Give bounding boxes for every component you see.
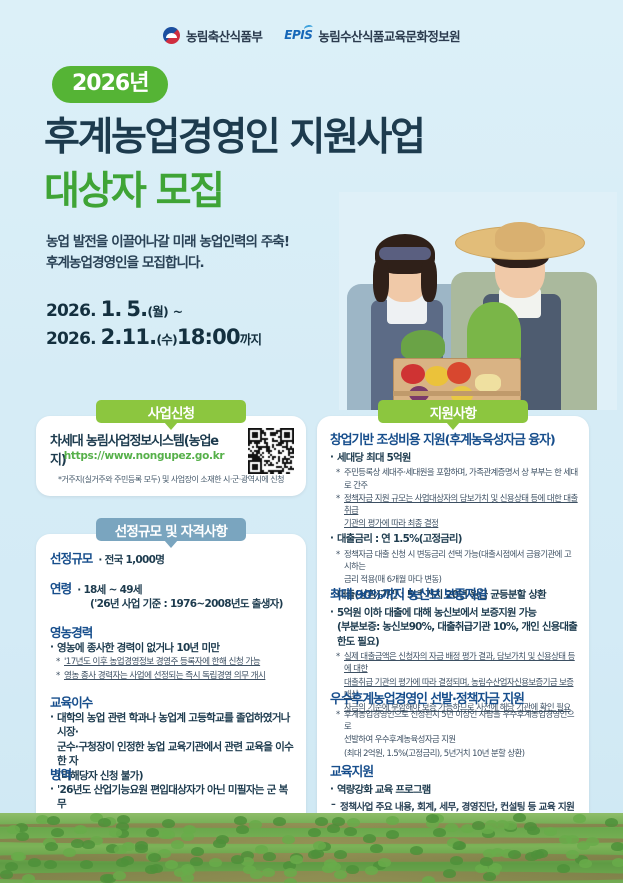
field-foliage [586, 837, 599, 846]
field-foliage [243, 865, 256, 874]
field-foliage [181, 864, 194, 873]
page-title-line2: 대상자 모집 [44, 172, 223, 211]
support-bullet-cont: (부분보증: 농신보90%, 대출취급기관 10%, 개인 신용대출 한도 필요… [330, 620, 578, 649]
field-foliage [445, 823, 458, 832]
year-badge: 2026년 [52, 66, 168, 103]
selection-item: 대학의 농업 관련 학과나 농업계 고등학교를 졸업하였거나 시장· [50, 711, 294, 740]
selection-section-heading: 병역 [50, 764, 71, 783]
support-note: 주민등록상 세대주·세대원을 포함하며, 가족관계증명서 상 부부는 한 세대로… [336, 466, 578, 490]
support-section: 교육지원역량강화 교육 프로그램정책사업 주요 내용, 회계, 세무, 경영진단… [330, 761, 578, 813]
apply-caption: 사업신청 [96, 400, 246, 423]
selection-section-heading: 교육이수 [50, 692, 92, 711]
field-foliage [162, 830, 175, 839]
selection-card: 선정규모· 전국 1,000명연령· 18세 ~ 49세('26년 사업 기준 … [36, 534, 306, 840]
poster: 농림축산식품부 EPIS 농림수산식품교육문화정보원 [0, 0, 623, 883]
field-foliage [0, 870, 13, 879]
qr-code[interactable] [248, 428, 294, 474]
field-foliage [290, 855, 303, 864]
support-section: 창업기반 조성비용 지원(후계농육성자금 융자)세대당 최대 5억원주민등록상 … [330, 429, 578, 603]
support-note: (최대 2억원, 1.5%(고정금리), 5년거치 10년 분할 상환) [336, 747, 578, 759]
field-foliage [513, 813, 526, 822]
field-foliage [231, 855, 244, 864]
selection-section: 영농경력영농에 종사한 경력이 없거나 10년 미만'17년도 이후 농업경영정… [50, 622, 294, 682]
support-note: 실제 대출금액은 신청자의 자금 배정 평가 결과, 담보가치 및 신용상태 등… [336, 650, 578, 674]
selection-section-heading: 연령 [50, 578, 71, 597]
field-foliage [234, 816, 247, 825]
end-suffix: 까지 [240, 332, 261, 347]
field-foliage [122, 842, 135, 851]
field-foliage [315, 817, 328, 826]
field-foliage [344, 827, 357, 836]
support-bullet: 역량강화 교육 프로그램 [330, 783, 578, 797]
field-foliage [181, 832, 194, 841]
field-foliage [47, 816, 60, 825]
selection-section-heading: 영농경력 [50, 622, 92, 641]
field-foliage [363, 834, 376, 843]
field-foliage [324, 859, 337, 868]
field-foliage [308, 828, 321, 837]
subtitle-line1: 농업 발전을 이끌어나갈 미래 농업인력의 주축! [46, 232, 289, 253]
end-year: 2026. [46, 329, 96, 349]
support-section: 우수후계농업경영인 선발·정책자금 지원후계농업경영인으로 선정된지 5년 이상… [330, 688, 578, 759]
field-foliage [531, 850, 544, 859]
field-foliage [557, 864, 570, 873]
selection-subitem: '17년도 이후 농업경영정보 경영주 등록자에 한해 신청 가능 [56, 656, 294, 668]
field-foliage [74, 825, 87, 834]
field-foliage [346, 865, 359, 874]
selection-subitem: 영농 종사 경력자는 사업에 선정되는 즉시 독립경영 의무 개시 [56, 670, 294, 682]
field-foliage [45, 842, 58, 851]
field-foliage [612, 858, 623, 867]
apply-system-name: 차세대 농림사업정보시스템(농업e지) [50, 430, 228, 468]
support-note: 선발하여 우수후계농육성자금 지원 [336, 733, 578, 745]
page-title-line1: 후계농업경영인 지원사업 [44, 118, 423, 157]
field-foliage [11, 852, 24, 861]
field-foliage [433, 828, 446, 837]
field-foliage [28, 858, 41, 867]
field-foliage [334, 870, 347, 879]
apply-url-link[interactable]: https://www.nongupez.go.kr [62, 450, 226, 462]
field-foliage [544, 827, 557, 836]
field-foliage [100, 874, 113, 883]
support-section-heading: 창업기반 조성비용 지원(후계농육성자금 융자) [330, 429, 578, 448]
selection-caption: 선정규모 및 자격사항 [96, 518, 246, 541]
selection-section-heading: 선정규모 [50, 548, 92, 567]
field-foliage [453, 841, 466, 850]
support-card: 창업기반 조성비용 지원(후계농육성자금 융자)세대당 최대 5억원주민등록상 … [317, 416, 589, 840]
field-foliage [327, 824, 340, 833]
support-note: 정책자금 지원 규모는 사업대상자의 담보가치 및 신용상태 등에 대한 대출취… [336, 492, 578, 516]
field-foliage [386, 830, 399, 839]
support-note: 정책자금 대출 신청 시 변동금리 선택 가능(대출시점에서 금융기관에 고시하… [336, 548, 578, 572]
start-month: 1. [101, 297, 122, 321]
field-foliage [378, 858, 391, 867]
selection-inline-value: · 18세 ~ 49세 [77, 584, 142, 596]
field-foliage [491, 848, 504, 857]
support-bullet: 5억원 이하 대출에 대해 농신보에서 보증지원 가능 [330, 606, 578, 620]
selection-inline-value: · 전국 1,000명 [98, 554, 164, 566]
field-foliage [480, 857, 493, 866]
selection-item: 영농에 종사한 경력이 없거나 10년 미만 [50, 641, 294, 655]
field-foliage [51, 828, 64, 837]
field-foliage [508, 850, 521, 859]
field-foliage [273, 817, 286, 826]
start-day: 5. [126, 297, 147, 321]
field-foliage [410, 846, 423, 855]
period-tilde: ~ [173, 304, 183, 319]
field-foliage [98, 818, 111, 827]
field-foliage [109, 828, 122, 837]
support-bullet: 대출금리 : 연 1.5%(고정금리) [330, 532, 578, 546]
logo-bar: 농림축산식품부 EPIS 농림수산식품교육문화정보원 [0, 18, 623, 52]
field-foliage [165, 860, 178, 869]
start-dow: (월) [147, 304, 168, 319]
epis-logo: EPIS 농림수산식품교육문화정보원 [284, 26, 460, 45]
start-year: 2026. [46, 301, 96, 321]
subtitle-line2: 후계농업경영인을 모집합니다. [46, 253, 289, 274]
field-foliage [63, 848, 76, 857]
field-foliage [171, 840, 184, 849]
field-foliage [191, 847, 204, 856]
field-foliage [365, 866, 378, 875]
field-foliage [44, 860, 57, 869]
field-foliage [82, 840, 95, 849]
end-time: 18:00 [177, 325, 240, 349]
ministry-emblem-icon [163, 27, 180, 44]
epis-mark-icon: EPIS [284, 28, 312, 42]
end-month: 2. [101, 325, 122, 349]
selection-section: 연령· 18세 ~ 49세('26년 사업 기준 : 1976~2008년도 출… [50, 578, 294, 611]
field-foliage [282, 835, 295, 844]
field-foliage [334, 850, 347, 859]
field-foliage [7, 825, 20, 834]
ministry-logo: 농림축산식품부 [163, 26, 262, 45]
field-foliage [386, 816, 399, 825]
field-foliage [249, 820, 262, 829]
support-section-heading: 교육지원 [330, 761, 578, 780]
field-furrow [0, 871, 623, 882]
field-foliage [148, 853, 161, 862]
field-foliage [573, 814, 586, 823]
field-foliage [213, 839, 226, 848]
field-foliage [113, 871, 126, 880]
field-foliage [579, 859, 592, 868]
end-day: 11. [122, 325, 157, 349]
field-foliage [443, 869, 456, 878]
crop-field-photo [0, 813, 623, 883]
field-foliage [611, 842, 623, 851]
apply-note: *거주지(실거주와 주민등록 모두) 및 사업장이 소재한 시·군·광역시에 신… [48, 474, 294, 485]
field-foliage [255, 845, 268, 854]
field-foliage [347, 818, 360, 827]
field-foliage [284, 868, 297, 877]
epis-label: 농림수산식품교육문화정보원 [318, 26, 460, 45]
application-period: 2026. 1. 5.(월) ~ 2026. 2.11.(수)18:00까지 [46, 296, 261, 351]
support-caption: 지원사항 [378, 400, 528, 423]
field-foliage [236, 825, 249, 834]
field-foliage [566, 850, 579, 859]
field-foliage [605, 818, 618, 827]
field-foliage [209, 858, 222, 867]
field-foliage [284, 878, 297, 883]
field-foliage [527, 826, 540, 835]
field-foliage [472, 821, 485, 830]
field-foliage [313, 841, 326, 850]
support-dash-item: 정책사업 주요 내용, 회계, 세무, 경영진단, 컨설팅 등 교육 지원 [330, 799, 578, 813]
support-note: 기관의 평가에 따라 최종 결정 [336, 517, 578, 529]
field-foliage [370, 844, 383, 853]
subtitle: 농업 발전을 이끌어나갈 미래 농업인력의 주축! 후계농업경영인을 모집합니다… [46, 232, 289, 274]
selection-section: 선정규모· 전국 1,000명 [50, 548, 294, 567]
support-bullet: 세대당 최대 5억원 [330, 451, 578, 465]
support-section-heading: 최대 90%까지 농신보 보증지원 [330, 584, 578, 603]
field-foliage [162, 819, 175, 828]
field-foliage [16, 832, 29, 841]
field-foliage [150, 864, 163, 873]
period-end-row: 2026. 2.11.(수)18:00까지 [46, 324, 261, 352]
field-foliage [496, 820, 509, 829]
selection-item: ('26년 사업 기준 : 1976~2008년도 출생자) [50, 597, 294, 611]
selection-item: '26년도 산업기능요원 편입대상자가 아닌 미필자는 군 복무 [50, 783, 294, 812]
field-foliage [22, 874, 35, 883]
support-section-heading: 우수후계농업경영인 선발·정책자금 지원 [330, 688, 578, 707]
field-foliage [450, 856, 463, 865]
field-foliage [121, 856, 134, 865]
field-foliage [483, 872, 496, 881]
field-foliage [135, 844, 148, 853]
field-foliage [566, 835, 579, 844]
field-foliage [426, 814, 439, 823]
support-note: 후계농업경영인으로 선정된지 5년 이상인 사람을 우수후계농업경영인으로 [336, 708, 578, 732]
ministry-label: 농림축산식품부 [186, 26, 262, 45]
field-foliage [80, 860, 93, 869]
end-dow: (수) [156, 332, 177, 347]
period-start-row: 2026. 1. 5.(월) ~ [46, 296, 261, 324]
field-foliage [422, 876, 435, 883]
field-foliage [262, 868, 275, 877]
field-foliage [146, 828, 159, 837]
farmers-photo [339, 192, 617, 410]
